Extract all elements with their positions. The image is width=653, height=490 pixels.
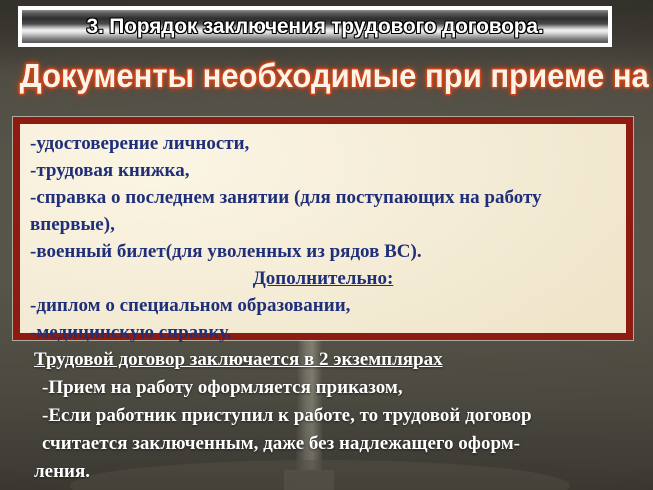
slide-title-plate: 3. Порядок заключения трудового договора…	[18, 6, 612, 47]
document-item: -удостоверение личности,	[30, 130, 616, 157]
document-item: -диплом о специальном образовании,	[30, 292, 616, 319]
documents-additional-subheading: Дополнительно:	[30, 265, 616, 292]
document-item: -трудовая книжка,	[30, 157, 616, 184]
closing-note-line: -Прием на работу оформляется приказом,	[34, 374, 644, 402]
closing-note-line: ления.	[34, 458, 644, 486]
slide-title-text: 3. Порядок заключения трудового договора…	[86, 15, 543, 39]
document-item: -справка о последнем занятии (для поступ…	[30, 184, 616, 238]
closing-note-line: считается заключенным, даже без надлежащ…	[34, 430, 644, 458]
slide-title-plate-inner: 3. Порядок заключения трудового договора…	[22, 10, 608, 43]
document-item: -военный билет(для уволенных из рядов ВС…	[30, 238, 616, 265]
documents-list-box-inner: -удостоверение личности, -трудовая книжк…	[20, 124, 626, 333]
closing-notes: Трудовой договор заключается в 2 экземпл…	[34, 346, 644, 486]
closing-note-heading: Трудовой договор заключается в 2 экземпл…	[34, 346, 644, 374]
document-item: -медицинскую справку.	[30, 319, 616, 346]
closing-note-line: -Если работник приступил к работе, то тр…	[34, 402, 644, 430]
slide-canvas: 3. Порядок заключения трудового договора…	[0, 0, 653, 490]
slide-heading: Документы необходимые при приеме на рабо…	[20, 56, 634, 96]
documents-list-box: -удостоверение личности, -трудовая книжк…	[13, 117, 633, 340]
